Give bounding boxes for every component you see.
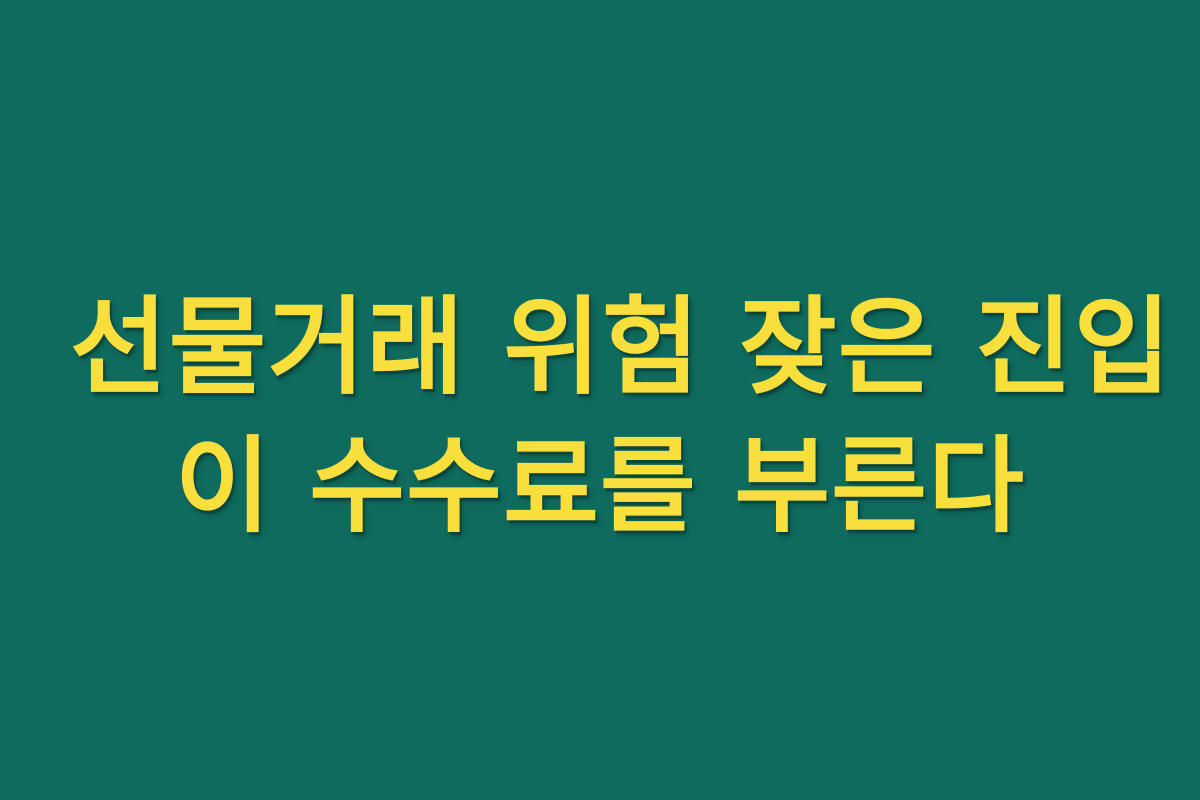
headline-line-2: 이 수수료를 부른다 <box>70 418 1130 555</box>
headline-line-1: 선물거래 위험 잦은 진입 <box>70 278 1130 418</box>
headline-block: 선물거래 위험 잦은 진입 이 수수료를 부른다 <box>70 278 1130 555</box>
text-banner: 선물거래 위험 잦은 진입 이 수수료를 부른다 <box>0 0 1200 800</box>
